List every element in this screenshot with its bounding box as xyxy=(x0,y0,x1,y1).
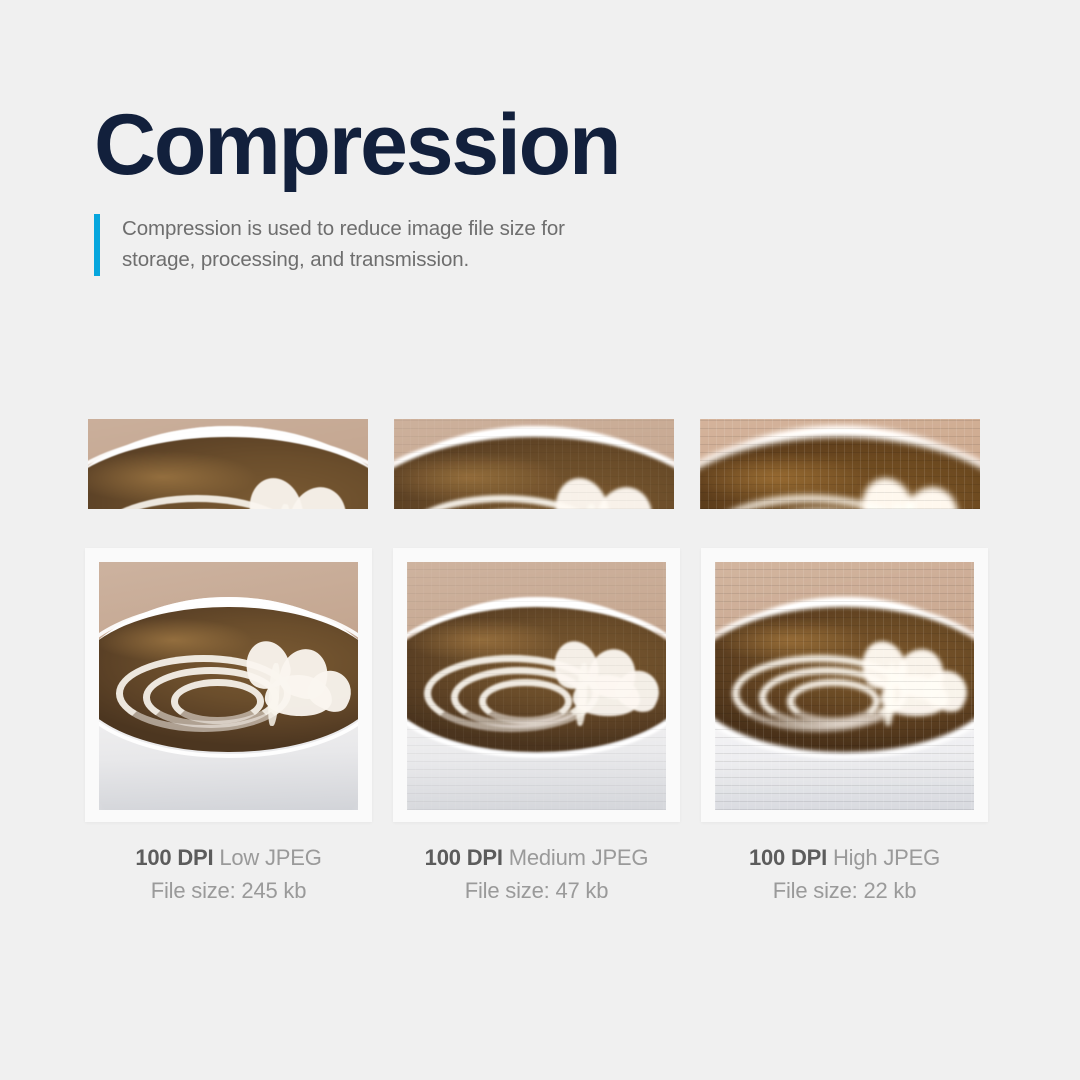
latte-image-detail-high xyxy=(700,419,980,509)
sample-image-low-jpeg xyxy=(99,562,358,810)
quality-label: High JPEG xyxy=(833,845,940,870)
dpi-label: 100 DPI xyxy=(425,845,503,870)
file-size-low: File size: 245 kb xyxy=(85,875,372,906)
detail-strip-medium-jpeg xyxy=(394,419,674,509)
coffee-cup xyxy=(407,597,666,810)
sample-card-low-jpeg[interactable] xyxy=(85,548,372,822)
sample-card-row xyxy=(85,548,988,822)
quality-label: Low JPEG xyxy=(219,845,321,870)
detail-strip-high-jpeg xyxy=(700,419,980,509)
caption-title-high: 100 DPI High JPEG xyxy=(701,843,988,873)
caption-title-low: 100 DPI Low JPEG xyxy=(85,843,372,873)
sample-image-medium-jpeg xyxy=(407,562,666,810)
file-size-high: File size: 22 kb xyxy=(701,875,988,906)
caption-medium-jpeg: 100 DPI Medium JPEG File size: 47 kb xyxy=(393,843,680,906)
sample-card-high-jpeg[interactable] xyxy=(701,548,988,822)
cup-rim xyxy=(407,601,666,757)
caption-title-medium: 100 DPI Medium JPEG xyxy=(393,843,680,873)
dpi-label: 100 DPI xyxy=(135,845,213,870)
accent-bar xyxy=(94,214,100,276)
subtitle-block: Compression is used to reduce image file… xyxy=(94,214,994,276)
detail-strip-low-jpeg xyxy=(88,419,368,509)
file-size-medium: File size: 47 kb xyxy=(393,875,680,906)
latte-image-detail-medium xyxy=(394,419,674,509)
cup-rim xyxy=(715,601,974,757)
header: Compression Compression is used to reduc… xyxy=(94,100,994,276)
cup-rim xyxy=(99,601,358,757)
caption-row: 100 DPI Low JPEG File size: 245 kb 100 D… xyxy=(85,843,988,906)
sample-card-medium-jpeg[interactable] xyxy=(393,548,680,822)
latte-image-medium xyxy=(407,562,666,810)
caption-low-jpeg: 100 DPI Low JPEG File size: 245 kb xyxy=(85,843,372,906)
page-title: Compression xyxy=(94,100,994,190)
subtitle-text: Compression is used to reduce image file… xyxy=(122,214,642,276)
latte-image-low xyxy=(99,562,358,810)
sample-image-high-jpeg xyxy=(715,562,974,810)
dpi-label: 100 DPI xyxy=(749,845,827,870)
latte-image-high xyxy=(715,562,974,810)
quality-label: Medium JPEG xyxy=(509,845,649,870)
latte-image-detail-low xyxy=(88,419,368,509)
coffee-cup xyxy=(99,597,358,810)
caption-high-jpeg: 100 DPI High JPEG File size: 22 kb xyxy=(701,843,988,906)
coffee-cup xyxy=(715,597,974,810)
detail-strip-row xyxy=(88,419,980,509)
